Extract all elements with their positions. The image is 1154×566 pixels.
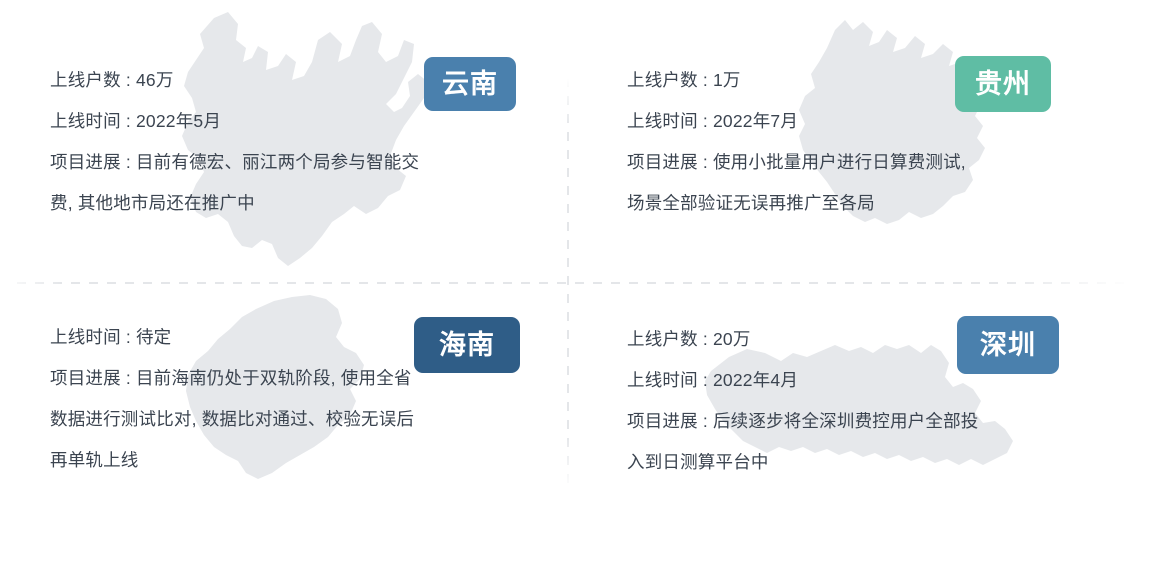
info-line: 上线时间 : 2022年4月 xyxy=(627,360,1097,401)
info-line: 项目进展 : 目前有德宏、丽江两个局参与智能交 xyxy=(50,142,520,183)
info-line: 上线时间 : 2022年7月 xyxy=(627,101,1097,142)
info-line: 再单轨上线 xyxy=(50,440,520,481)
info-line: 费, 其他地市局还在推广中 xyxy=(50,183,520,224)
info-line: 上线时间 : 待定 xyxy=(50,317,520,358)
info-line: 项目进展 : 使用小批量用户进行日算费测试, xyxy=(627,142,1097,183)
info-line: 场景全部验证无误再推广至各局 xyxy=(627,183,1097,224)
info-line: 项目进展 : 目前海南仍处于双轨阶段, 使用全省 xyxy=(50,358,520,399)
hainan-info-lines: 上线时间 : 待定 项目进展 : 目前海南仍处于双轨阶段, 使用全省 数据进行测… xyxy=(50,317,520,481)
panel-hainan: 海南 上线时间 : 待定 项目进展 : 目前海南仍处于双轨阶段, 使用全省 数据… xyxy=(0,283,577,566)
yunnan-info-lines: 上线户数 : 46万 上线时间 : 2022年5月 项目进展 : 目前有德宏、丽… xyxy=(50,60,520,224)
province-status-board: 云南 上线户数 : 46万 上线时间 : 2022年5月 项目进展 : 目前有德… xyxy=(0,0,1154,566)
panel-yunnan: 云南 上线户数 : 46万 上线时间 : 2022年5月 项目进展 : 目前有德… xyxy=(0,0,577,283)
info-line: 上线时间 : 2022年5月 xyxy=(50,101,520,142)
info-line: 数据进行测试比对, 数据比对通过、校验无误后 xyxy=(50,399,520,440)
panel-shenzhen: 深圳 上线户数 : 20万 上线时间 : 2022年4月 项目进展 : 后续逐步… xyxy=(577,283,1154,566)
shenzhen-info-lines: 上线户数 : 20万 上线时间 : 2022年4月 项目进展 : 后续逐步将全深… xyxy=(627,319,1097,483)
info-line: 项目进展 : 后续逐步将全深圳费控用户全部投 xyxy=(627,401,1097,442)
info-line: 上线户数 : 20万 xyxy=(627,319,1097,360)
info-line: 入到日测算平台中 xyxy=(627,442,1097,483)
info-line: 上线户数 : 46万 xyxy=(50,60,520,101)
guizhou-info-lines: 上线户数 : 1万 上线时间 : 2022年7月 项目进展 : 使用小批量用户进… xyxy=(627,60,1097,224)
info-line: 上线户数 : 1万 xyxy=(627,60,1097,101)
panel-guizhou: 贵州 上线户数 : 1万 上线时间 : 2022年7月 项目进展 : 使用小批量… xyxy=(577,0,1154,283)
